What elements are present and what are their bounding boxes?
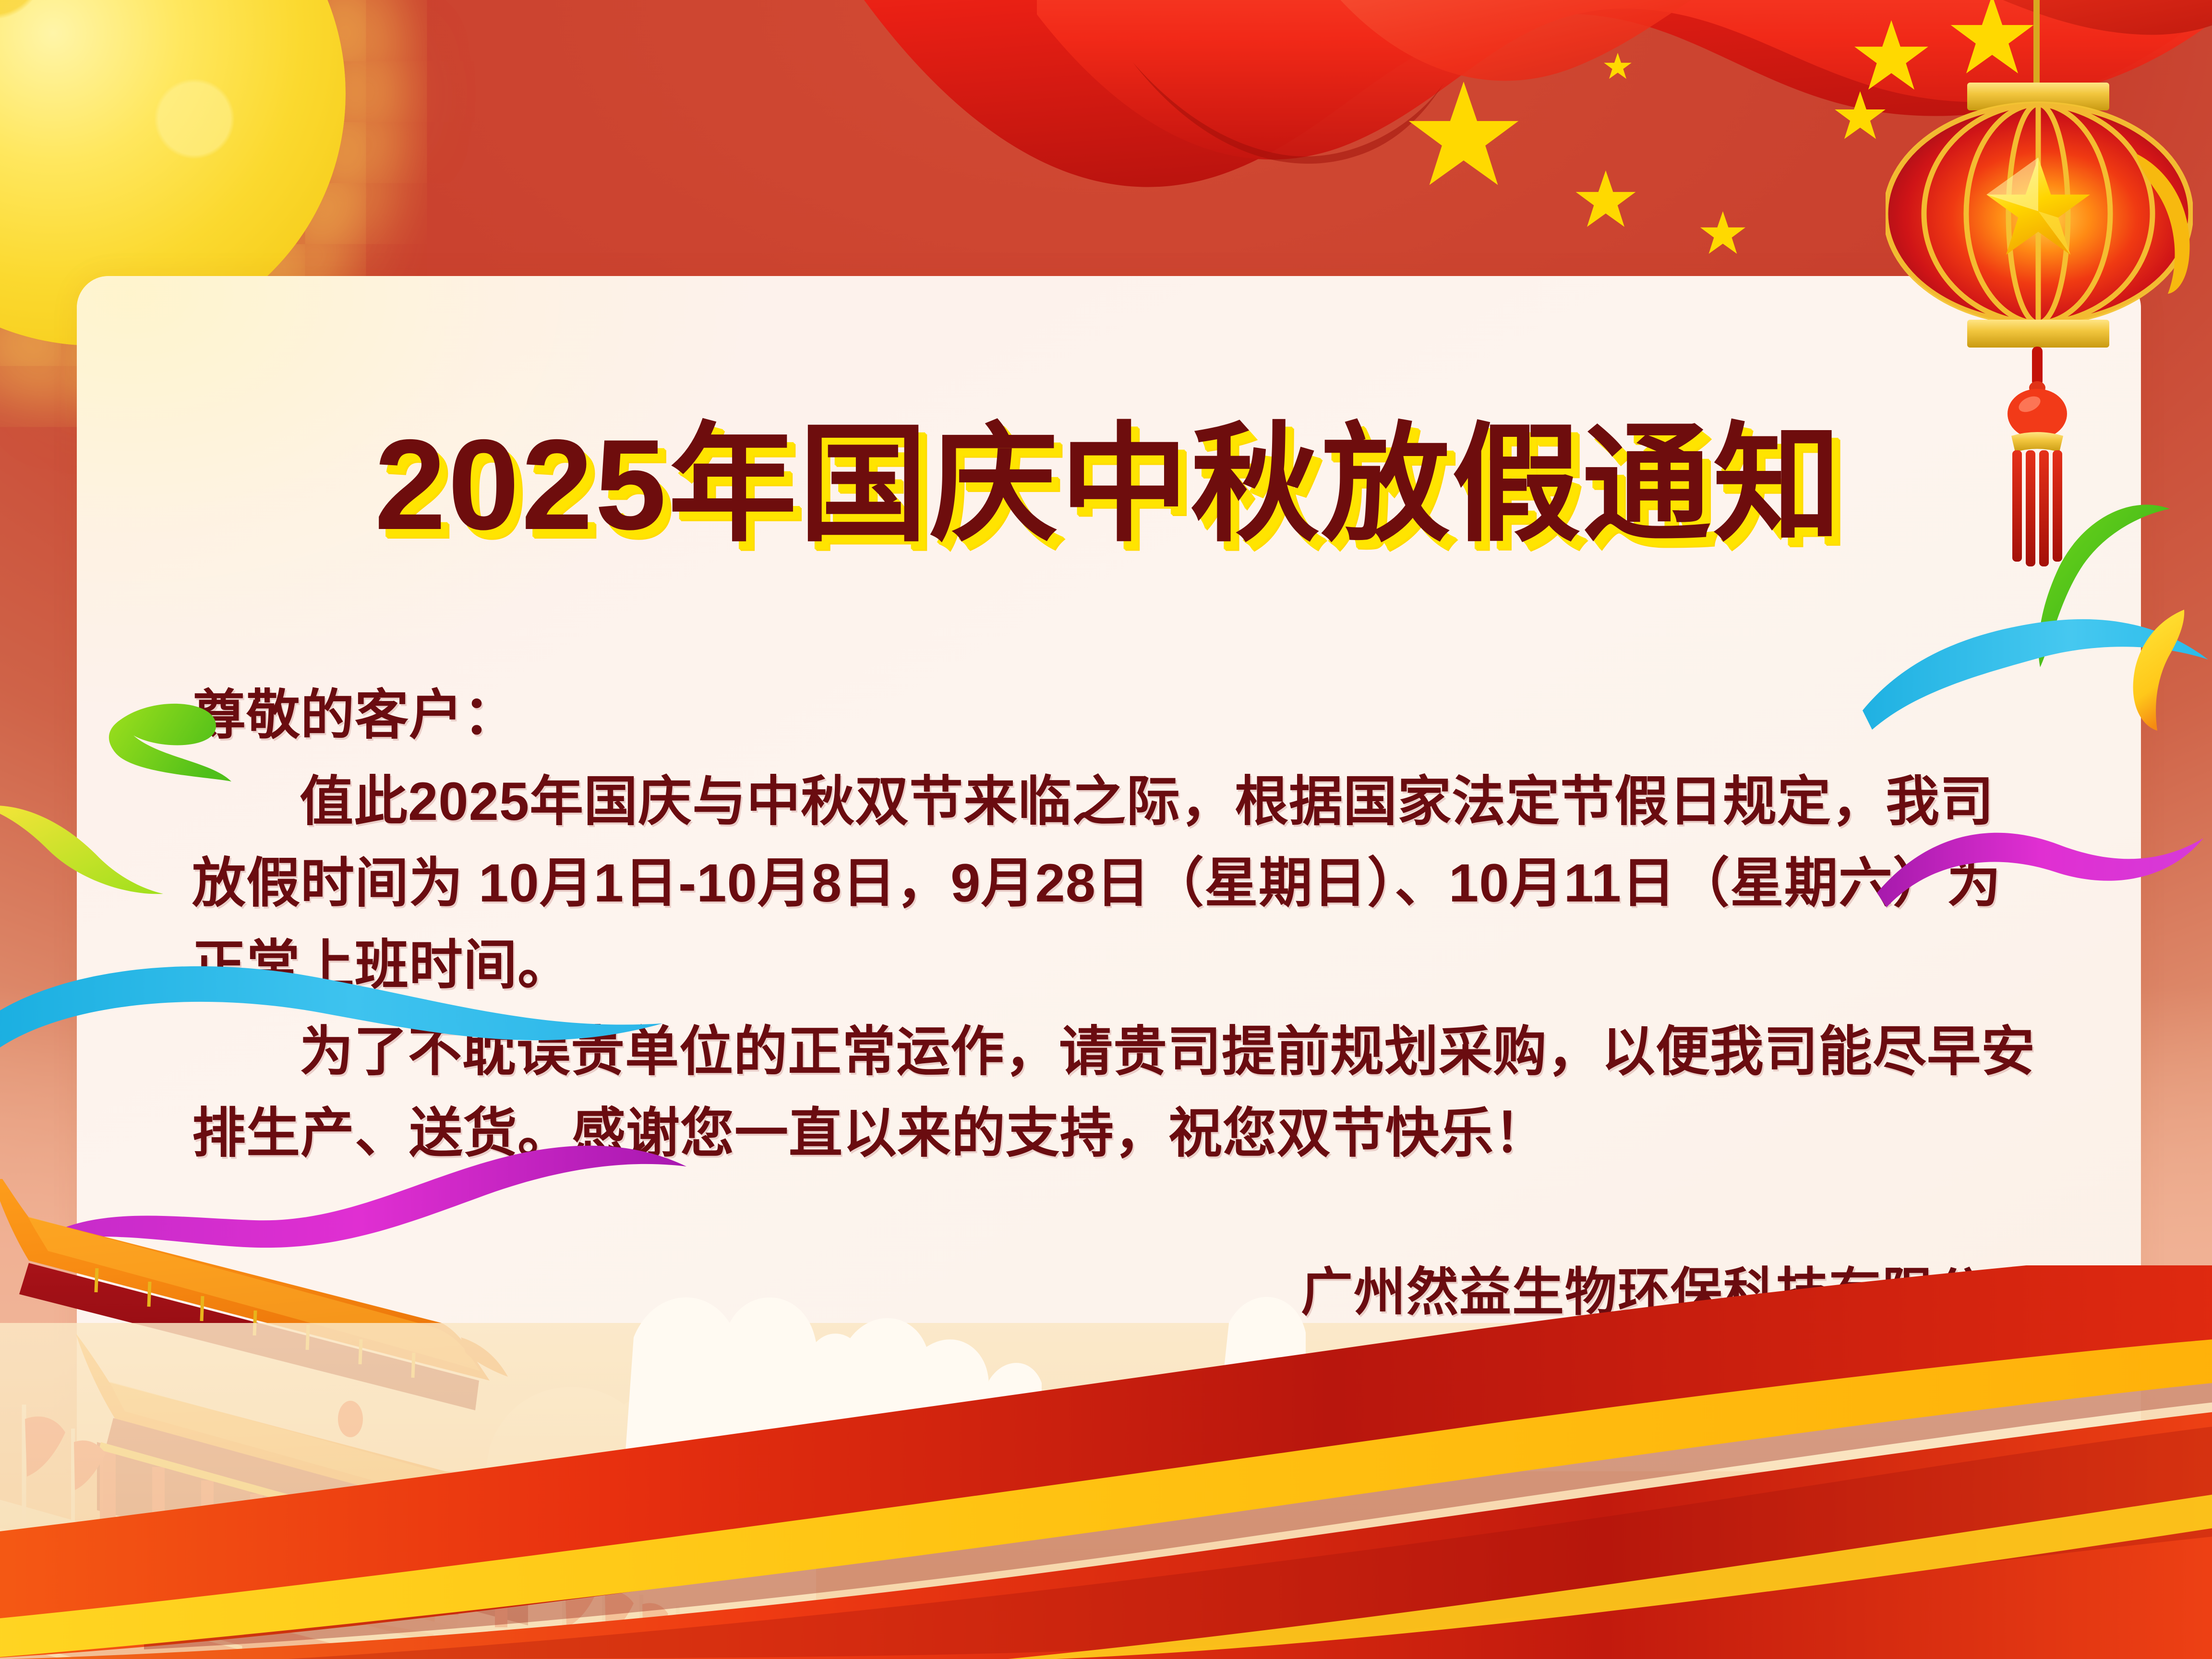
salutation: 尊敬的客户： [192,674,2045,756]
lantern-icon [1886,0,2193,619]
page-title: 2025年国庆中秋放假通知 [77,420,2141,549]
paragraph-2: 为了不耽误贵单位的正常运作，请贵司提前规划采购，以便我司能尽早安排生产、送货。感… [192,1011,2045,1174]
bottom-ribbon-bands [0,1265,2212,1659]
poster-canvas: 2025年国庆中秋放假通知 尊敬的客户： 值此2025年国庆与中秋双节来临之际，… [0,0,2212,1659]
paragraph-1: 值此2025年国庆与中秋双节来临之际，根据国家法定节假日规定，我司放假时间为 1… [192,761,2045,1006]
notice-body: 尊敬的客户： 值此2025年国庆与中秋双节来临之际，根据国家法定节假日规定，我司… [192,674,2045,1179]
